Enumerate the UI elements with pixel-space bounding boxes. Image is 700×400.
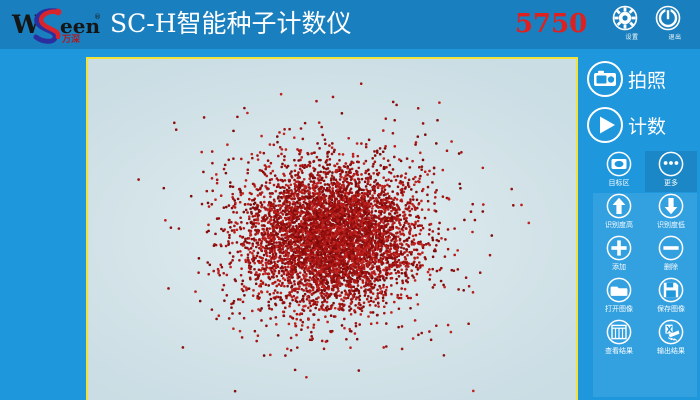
tool-open-image[interactable]: 打开图像 [593,277,645,318]
target-area-icon [606,151,632,177]
tool-label: 查看结果 [593,346,645,356]
tool-label: 更多 [645,178,697,188]
photo-label: 拍照 [628,66,666,93]
tool-target-area[interactable]: 目标区 [593,151,645,192]
folder-icon [606,277,632,303]
arrow-down-icon [658,193,684,219]
tool-label: 保存图像 [645,304,697,314]
tool-add[interactable]: 添加 [593,235,645,276]
count-label: 计数 [628,112,666,139]
tool-label: 删除 [645,262,697,272]
svg-text:万深: 万深 [61,33,80,45]
tool-label: 输出结果 [645,346,697,356]
count-button[interactable]: 计数 [586,103,698,147]
seed-particles [88,59,576,400]
tool-save-image[interactable]: 保存图像 [645,277,697,318]
tool-label: 添加 [593,262,645,272]
tool-grid: 目标区 更多 [593,151,697,397]
plus-icon [606,235,632,261]
arrow-up-icon [606,193,632,219]
seed-counter-app: W een ® 万深 SC-H智能种子计数仪 5750 [0,0,700,400]
wseen-logo: W een ® 万深 [12,6,104,44]
play-icon [586,106,624,144]
tool-label: 目标区 [593,178,645,188]
tool-sidebar: 拍照 计数 目标区 [580,49,700,400]
floppy-disk-icon [658,277,684,303]
table-grid-icon [606,319,632,345]
seed-count-display: 5750 [505,8,597,40]
exit-label: 退出 [655,32,695,41]
gear-icon [612,5,652,31]
ellipsis-icon [658,151,684,177]
camera-icon [586,60,624,98]
tool-label: 识别度高 [593,220,645,230]
tool-view-result[interactable]: 查看结果 [593,319,645,360]
tool-label: 打开图像 [593,304,645,314]
image-canvas-panel[interactable] [86,57,578,400]
tool-export-result[interactable]: X 输出结果 [645,319,697,360]
tool-more[interactable]: 更多 [645,151,697,192]
exit-button[interactable]: 退出 [655,5,695,41]
excel-export-icon: X [658,319,684,345]
page-title: SC-H智能种子计数仪 [110,6,352,42]
tool-recog-low[interactable]: 识别度低 [645,193,697,234]
sample-image [88,59,576,400]
tool-recog-high[interactable]: 识别度高 [593,193,645,234]
svg-text:®: ® [94,13,101,21]
power-icon [655,5,695,31]
settings-label: 设置 [612,32,652,41]
minus-icon [658,235,684,261]
tool-delete[interactable]: 删除 [645,235,697,276]
settings-button[interactable]: 设置 [612,5,652,41]
app-header: W een ® 万深 SC-H智能种子计数仪 5750 [0,0,700,49]
photo-button[interactable]: 拍照 [586,57,698,101]
tool-label: 识别度低 [645,220,697,230]
